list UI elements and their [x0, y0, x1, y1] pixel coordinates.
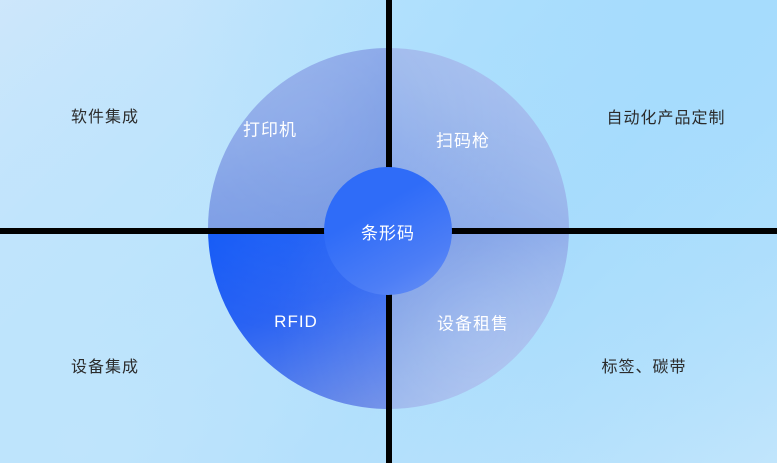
outer-label-automation-custom: 自动化产品定制 [606, 104, 725, 128]
center-node-label: 条形码 [361, 219, 415, 244]
segment-label-rental: 设备租售 [437, 310, 509, 335]
diagram-canvas: 条形码 打印机 扫码枪 RFID 设备租售 软件集成 自动化产品定制 设备集成 … [0, 0, 777, 463]
center-node-barcode[interactable]: 条形码 [324, 167, 452, 295]
outer-label-labels-ribbons: 标签、碳带 [601, 353, 686, 377]
outer-label-software-integration: 软件集成 [71, 103, 139, 127]
outer-label-device-integration: 设备集成 [71, 353, 139, 377]
segment-label-rfid: RFID [274, 312, 318, 332]
segment-label-scanner: 扫码枪 [436, 127, 490, 152]
segment-label-printer: 打印机 [243, 116, 297, 141]
